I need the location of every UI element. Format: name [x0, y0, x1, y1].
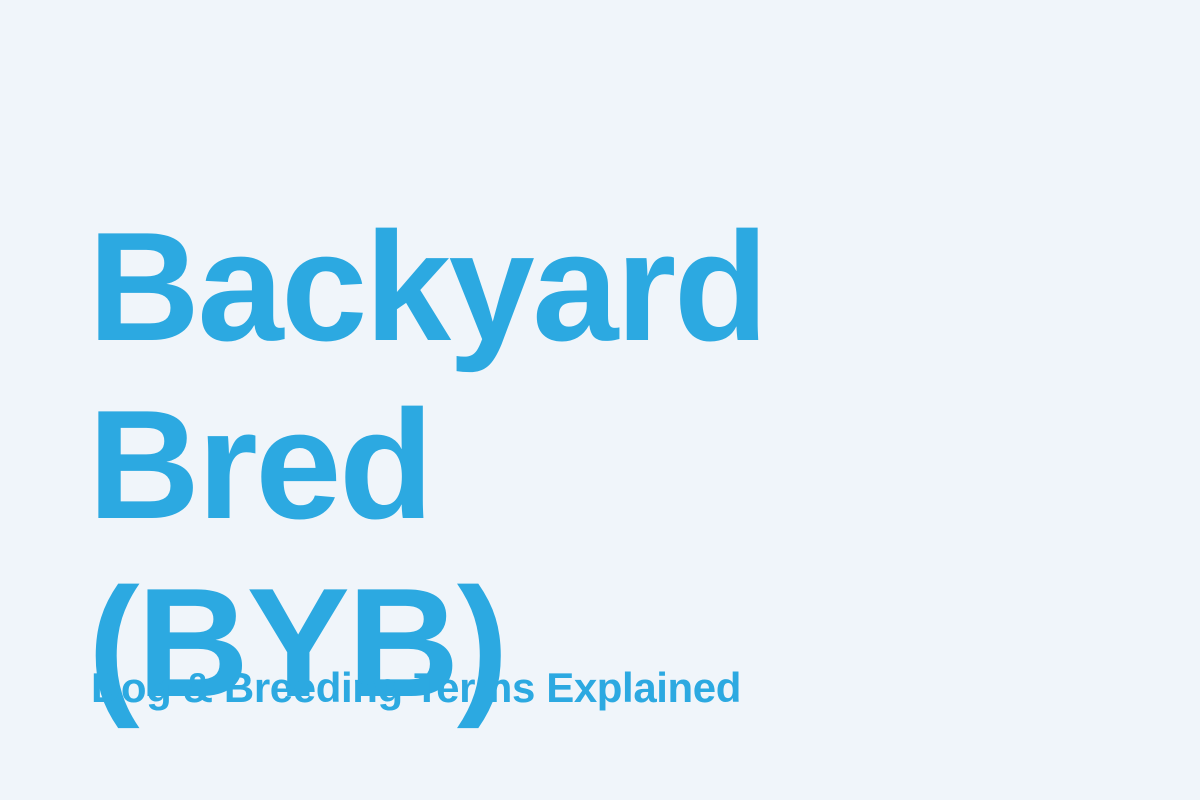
page-subtitle: Dog & Breeding Terms Explained — [91, 662, 741, 714]
card-content: Backyard Bred (BYB) Dog & Breeding Terms… — [88, 0, 1148, 800]
title-card: Backyard Bred (BYB) Dog & Breeding Terms… — [0, 0, 1200, 800]
page-title: Backyard Bred (BYB) — [88, 198, 1148, 732]
